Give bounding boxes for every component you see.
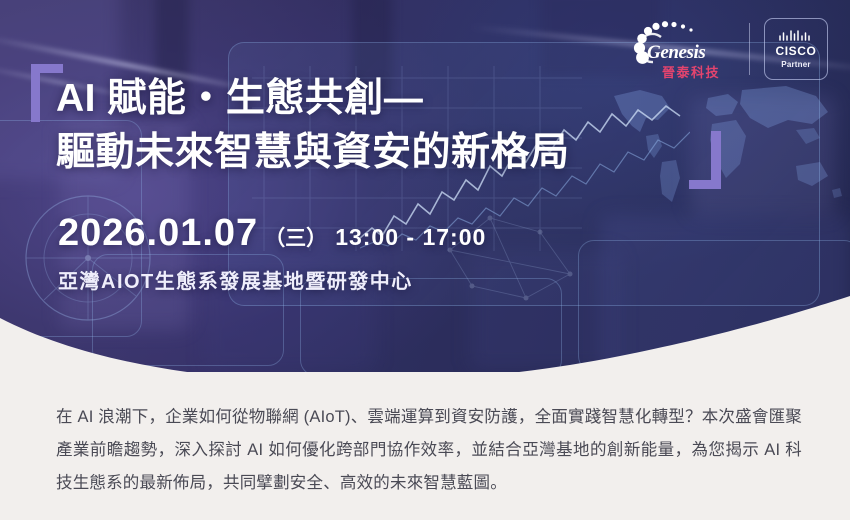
bracket-bottom-right-horizontal [689, 180, 721, 189]
genesis-wordmark: Genesis [647, 42, 705, 64]
event-date: 2026.01.07 [58, 212, 258, 254]
cisco-wordmark: CISCO [775, 44, 816, 58]
description-section: 在 AI 浪潮下，企業如何從物聯網 (AIoT)、雲端運算到資安防護，全面實踐智… [0, 372, 850, 520]
cisco-partner-tier: Partner [781, 60, 810, 69]
hero-wave-divider [0, 284, 850, 372]
event-datetime: 2026.01.07（三）13:00 - 17:00 [58, 212, 486, 255]
event-weekday: （三） [264, 227, 327, 250]
logo-divider [749, 23, 750, 75]
title-line-2: 驅動未來智慧與資安的新格局 [56, 126, 716, 180]
genesis-logo: Genesis 晉泰科技 [625, 18, 735, 80]
cisco-partner-badge: CISCO Partner [764, 18, 828, 80]
event-banner: Genesis 晉泰科技 [0, 0, 850, 520]
page-title: AI 賦能・生態共創— 驅動未來智慧與資安的新格局 [56, 72, 716, 180]
title-line-1: AI 賦能・生態共創— [56, 77, 423, 120]
hero-section: Genesis 晉泰科技 [0, 0, 850, 372]
event-time: 13:00 - 17:00 [335, 224, 486, 250]
description-paragraph: 在 AI 浪潮下，企業如何從物聯網 (AIoT)、雲端運算到資安防護，全面實踐智… [56, 401, 802, 500]
logo-group: Genesis 晉泰科技 [625, 18, 828, 80]
cisco-bridge-icon [778, 29, 814, 42]
